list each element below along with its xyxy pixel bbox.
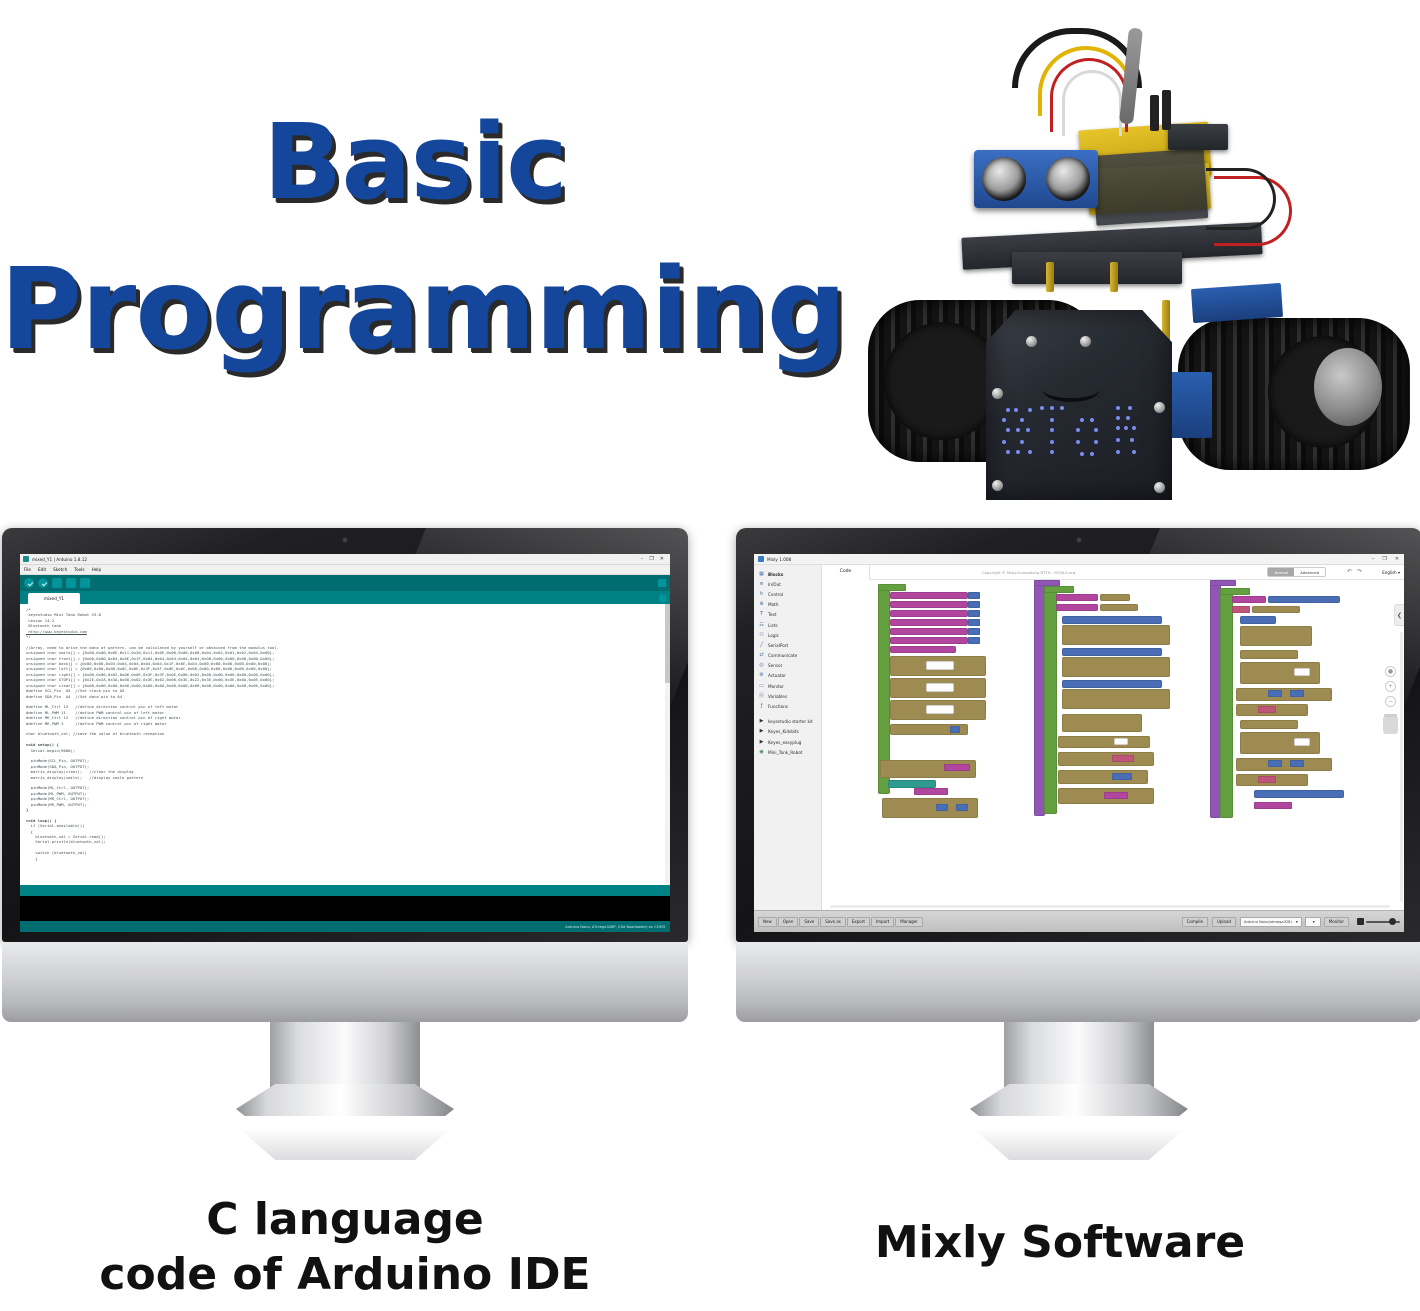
jumper-header <box>1162 90 1171 130</box>
chevron-right-icon: ▶ <box>758 739 765 746</box>
sidebar-item-variables[interactable]: ⓋVariables <box>754 691 821 701</box>
left-monitor-base <box>236 1084 454 1116</box>
library-icon: ◉ <box>758 749 765 756</box>
sidebar-group-label: Keyes_easyplug <box>768 740 801 745</box>
canvas-horizontal-scrollbar[interactable] <box>830 905 1390 908</box>
sidebar-item-label: Monitor <box>768 684 784 689</box>
page-title-line-1: Basic <box>0 96 830 229</box>
port-select[interactable]: ▾ <box>1305 917 1321 927</box>
mixly-body: ▦Blocks≡In/Out↻Control⊕MathTText☷Lists⚇L… <box>754 565 1404 910</box>
ide-console <box>20 896 670 921</box>
redo-icon[interactable]: ↷ <box>1357 569 1362 575</box>
sidebar-item-in-out[interactable]: ≡In/Out <box>754 579 821 589</box>
board-select[interactable]: Arduino Nano(atmega328)▾ <box>1240 917 1302 927</box>
open-icon[interactable] <box>66 578 76 588</box>
board-info-text: Arduino Nano, ATmega328P, (Old Bootloade… <box>565 925 665 929</box>
logic-icon: ⚇ <box>758 632 765 639</box>
chevron-right-icon: ▶ <box>758 718 765 725</box>
sidebar-item-logic[interactable]: ⚇Logic <box>754 630 821 640</box>
ide-titlebar: mixed_Y1 | Arduino 1.8.12 – ❐ ✕ <box>20 554 670 565</box>
jumper-header <box>1150 95 1159 131</box>
upload-button[interactable]: Upload <box>1212 917 1236 927</box>
window-controls[interactable]: – ❐ ✕ <box>641 557 667 562</box>
sidebar-item-lists[interactable]: ☷Lists <box>754 620 821 630</box>
sidebar-item-label: Lists <box>768 623 778 628</box>
mixly-main: Code Copyright © Mixly.Guangdong BTTH - … <box>822 565 1404 910</box>
undo-icon[interactable]: ↶ <box>1347 569 1352 575</box>
scrollbar-thumb[interactable] <box>665 604 670 683</box>
tab-code[interactable]: Code <box>822 565 870 580</box>
left-monitor-chin <box>2 942 688 1022</box>
compile-button[interactable]: Compile <box>1182 917 1208 927</box>
sidebar-item-math[interactable]: ⊕Math <box>754 600 821 610</box>
left-monitor: mixed_Y1 | Arduino 1.8.12 – ❐ ✕ File Edi… <box>2 528 688 1128</box>
zoom-in-icon[interactable]: + <box>1385 681 1396 692</box>
mixly-titlebar: Mixly 1.008 – ❐ ✕ <box>754 554 1404 565</box>
code-line: { <box>26 856 670 861</box>
zoom-out-icon[interactable]: − <box>1385 696 1396 707</box>
save-as-button[interactable]: Save as <box>820 917 846 927</box>
mode-toggle[interactable]: Normal Advanced <box>1267 567 1326 576</box>
module-board <box>1168 124 1228 150</box>
wire-white <box>1062 70 1122 136</box>
monitor-icon: ▭ <box>758 683 765 690</box>
slider-knob[interactable] <box>1389 918 1396 925</box>
code-editor[interactable]: /* keyestudio Mini Tank Robot V3.0 Lesso… <box>20 604 670 885</box>
menu-file[interactable]: File <box>24 567 31 572</box>
math-icon: ⊕ <box>758 601 765 608</box>
sidebar-item-label: Communicate <box>768 653 797 658</box>
open-button[interactable]: Open <box>778 917 799 927</box>
standoff <box>1046 262 1054 292</box>
sidebar-item-control[interactable]: ↻Control <box>754 589 821 599</box>
block-stack-1[interactable] <box>878 584 1018 824</box>
upload-icon[interactable] <box>38 578 48 588</box>
led-matrix-panel <box>986 310 1172 500</box>
block-stack-3[interactable] <box>1210 580 1380 830</box>
ide-toolbar[interactable] <box>20 575 670 591</box>
ide-menubar[interactable]: File Edit Sketch Tools Help <box>20 565 670 575</box>
sidebar-group-keyestudio-starter-kit[interactable]: ▶keyestudio starter kit <box>754 717 821 727</box>
mixly-window: Mixly 1.008 – ❐ ✕ ▦Blocks≡In/Out↻Control… <box>754 554 1404 932</box>
slider-left-icon[interactable] <box>1357 918 1364 925</box>
blocks-canvas[interactable]: ❮ ● + − <box>822 580 1404 910</box>
verify-icon[interactable] <box>24 578 34 588</box>
right-monitor-base <box>970 1084 1188 1116</box>
trash-icon[interactable] <box>1383 717 1398 734</box>
left-caption: C language code of Arduino IDE <box>0 1192 690 1302</box>
lists-icon: ☷ <box>758 622 765 629</box>
center-icon[interactable]: ● <box>1385 666 1396 677</box>
mini-tank-robot-photo <box>862 0 1418 512</box>
mode-advanced[interactable]: Advanced <box>1294 568 1325 575</box>
sidebar-group-label: Mini_Tank_Robot <box>768 750 802 755</box>
canvas-controls[interactable]: ● + − <box>1383 666 1398 734</box>
variables-icon: Ⓥ <box>758 693 765 700</box>
export-button[interactable]: Export <box>847 917 870 927</box>
sidebar-item-label: Text <box>768 612 776 617</box>
new-icon[interactable] <box>52 578 62 588</box>
code-lines: /* keyestudio Mini Tank Robot V3.0 Lesso… <box>26 607 670 861</box>
menu-help[interactable]: Help <box>92 567 102 572</box>
sidebar-group-keyes-kidsbits[interactable]: ▶Keyes_Kidsbits <box>754 727 821 737</box>
sketch-tab[interactable]: mixed_Y1 <box>28 593 80 604</box>
menu-edit[interactable]: Edit <box>38 567 46 572</box>
sidebar-item-actuator[interactable]: ⚙Actuator <box>754 671 821 681</box>
sidebar-item-label: Blocks <box>768 572 783 577</box>
maximize-icon[interactable]: ❐ <box>649 557 653 562</box>
sidebar-item-label: In/Out <box>768 582 781 587</box>
mixly-bottombar[interactable]: NewOpenSaveSave asExportImportManager Co… <box>754 910 1404 932</box>
sidebar-item-label: Logic <box>768 633 779 638</box>
ide-window-title: mixed_Y1 | Arduino 1.8.12 <box>32 557 87 562</box>
webcam-icon <box>1076 537 1082 543</box>
right-monitor-reflection <box>970 1116 1188 1160</box>
sidebar-group-keyes-easyplug[interactable]: ▶Keyes_easyplug <box>754 737 821 747</box>
actuator-icon: ⚙ <box>758 672 765 679</box>
ultrasonic-eye-left <box>982 157 1026 201</box>
ide-board-status-bar: Arduino Nano, ATmega328P, (Old Bootloade… <box>20 921 670 932</box>
tab-menu-icon[interactable] <box>659 595 666 602</box>
sidebar-item-label: Control <box>768 592 783 597</box>
right-monitor-chin <box>736 942 1420 1022</box>
right-monitor: Mixly 1.008 – ❐ ✕ ▦Blocks≡In/Out↻Control… <box>736 528 1420 1128</box>
sensor-shield <box>1092 148 1209 226</box>
ide-status-strip <box>20 885 670 896</box>
mixly-sidebar[interactable]: ▦Blocks≡In/Out↻Control⊕MathTText☷Lists⚇L… <box>754 565 822 910</box>
sidebar-item-blocks[interactable]: ▦Blocks <box>754 569 821 579</box>
sidebar-item-text[interactable]: TText <box>754 610 821 620</box>
right-caption: Mixly Software <box>710 1215 1410 1270</box>
sidebar-group-mini-tank-robot[interactable]: ◉Mini_Tank_Robot <box>754 747 821 757</box>
file-buttons[interactable]: NewOpenSaveSave asExportImportManager <box>758 917 924 927</box>
canvas-vertical-scrollbar[interactable] <box>1400 632 1403 902</box>
sidebar-item-label: Functions <box>768 704 788 709</box>
control-icon: ↻ <box>758 591 765 598</box>
sidebar-item-sensor[interactable]: ◎Sensor <box>754 661 821 671</box>
sidebar-group-label: keyestudio starter kit <box>768 719 813 724</box>
arduino-ide-window: mixed_Y1 | Arduino 1.8.12 – ❐ ✕ File Edi… <box>20 554 670 932</box>
menu-sketch[interactable]: Sketch <box>53 567 67 572</box>
communicate-icon: ⇄ <box>758 652 765 659</box>
led-matrix-dots <box>986 310 1172 500</box>
mixly-app-icon <box>758 556 764 562</box>
left-caption-line-2: code of Arduino IDE <box>0 1247 690 1302</box>
sidebar-item-monitor[interactable]: ▭Monitor <box>754 681 821 691</box>
serial-monitor-icon[interactable] <box>658 579 666 587</box>
mixly-topbar: Code Copyright © Mixly.Guangdong BTTH - … <box>822 565 1404 580</box>
page-title: Basic Programming <box>0 96 830 382</box>
sidebar-item-label: Actuator <box>768 673 786 678</box>
menu-tools[interactable]: Tools <box>74 567 84 572</box>
sidebar-item-functions[interactable]: ƒFunctions <box>754 701 821 711</box>
slider-track[interactable] <box>1366 921 1400 923</box>
window-controls[interactable]: – ❐ ✕ <box>1372 557 1404 562</box>
blocks-icon: ▦ <box>758 571 765 578</box>
import-button[interactable]: Import <box>871 917 894 927</box>
sidebar-item-label: SerialPort <box>768 643 788 648</box>
maximize-icon[interactable]: ❐ <box>1382 557 1386 562</box>
right-monitor-neck <box>1004 1022 1154 1090</box>
ide-tabbar[interactable]: mixed_Y1 <box>20 591 670 604</box>
language-select[interactable]: English ▾ <box>1382 570 1400 575</box>
standoff <box>1110 262 1118 292</box>
left-monitor-reflection <box>236 1116 454 1160</box>
functions-icon: ƒ <box>758 703 765 710</box>
arduino-app-icon <box>23 556 29 562</box>
inout-icon: ≡ <box>758 581 765 588</box>
manager-button[interactable]: Manager <box>895 917 923 927</box>
collapse-panel-button[interactable]: ❮ <box>1394 604 1404 626</box>
serialport-icon: ╱ <box>758 642 765 649</box>
page-title-line-2: Programming <box>0 239 830 382</box>
sidebar-group-label: Keyes_Kidsbits <box>768 729 799 734</box>
mode-normal[interactable]: Normal <box>1268 568 1294 575</box>
copyright-text: Copyright © Mixly.Guangdong BTTH - MCNLX… <box>982 570 1075 575</box>
text-icon: T <box>758 611 765 618</box>
blue-bracket <box>1170 372 1212 438</box>
sidebar-item-label: Sensor <box>768 663 782 668</box>
save-icon[interactable] <box>80 578 90 588</box>
chassis-plate-front <box>1012 252 1182 284</box>
right-wheel-hub <box>1314 348 1382 426</box>
ultrasonic-eye-right <box>1046 157 1090 201</box>
sidebar-item-label: Math <box>768 602 778 607</box>
sidebar-item-communicate[interactable]: ⇄Communicate <box>754 651 821 661</box>
webcam-icon <box>342 537 348 543</box>
new-button[interactable]: New <box>758 917 777 927</box>
mixly-window-title: Mixly 1.008 <box>767 557 791 562</box>
editor-scrollbar[interactable] <box>665 604 670 885</box>
wire-black-right <box>1206 168 1276 230</box>
sidebar-item-label: Variables <box>768 694 787 699</box>
minimize-icon[interactable]: – <box>1372 557 1375 562</box>
minimize-icon[interactable]: – <box>641 557 644 562</box>
zoom-slider[interactable] <box>1357 918 1400 925</box>
chevron-right-icon: ▶ <box>758 728 765 735</box>
sensor-icon: ◎ <box>758 662 765 669</box>
battery-holder <box>1191 283 1283 323</box>
monitor-button[interactable]: Monitor <box>1324 917 1349 927</box>
save-button[interactable]: Save <box>799 917 819 927</box>
right-monitor-screen: Mixly 1.008 – ❐ ✕ ▦Blocks≡In/Out↻Control… <box>754 554 1404 932</box>
ultrasonic-sensor <box>974 150 1098 208</box>
block-stack-2[interactable] <box>1034 580 1194 830</box>
history-controls[interactable]: ↶ ↷ <box>1347 569 1362 575</box>
action-group[interactable]: Compile Upload Arduino Nano(atmega328)▾ … <box>1182 917 1400 927</box>
close-icon[interactable]: ✕ <box>1395 557 1399 562</box>
left-monitor-neck <box>270 1022 420 1090</box>
close-icon[interactable]: ✕ <box>660 557 664 562</box>
sidebar-item-serialport[interactable]: ╱SerialPort <box>754 640 821 650</box>
left-caption-line-1: C language <box>0 1192 690 1247</box>
left-monitor-screen: mixed_Y1 | Arduino 1.8.12 – ❐ ✕ File Edi… <box>20 554 670 932</box>
